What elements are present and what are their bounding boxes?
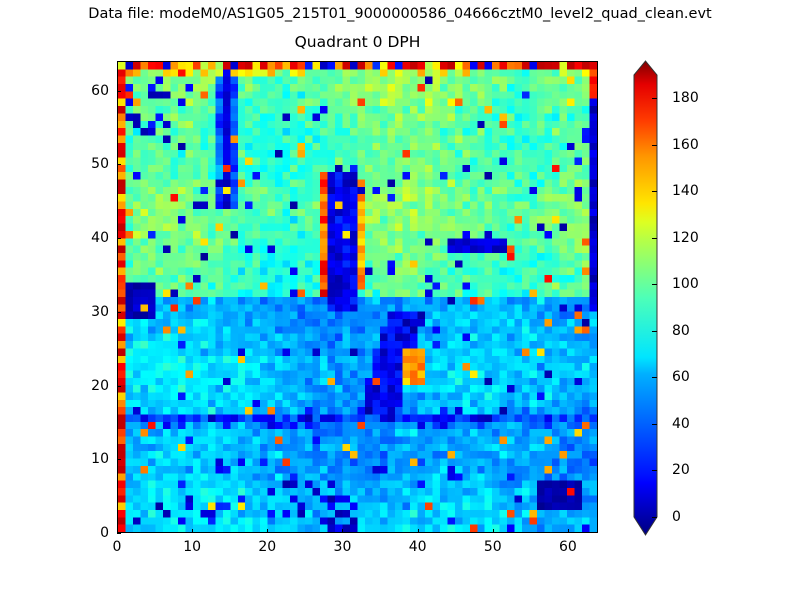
y-tick-mark xyxy=(117,533,121,534)
x-tick-label: 10 xyxy=(183,539,201,555)
x-tick-mark xyxy=(568,529,569,533)
colorbar: 020406080100120140160180 xyxy=(626,58,716,538)
colorbar-tick-mark xyxy=(652,284,657,285)
figure-canvas: Data file: modeM0/AS1G05_215T01_90000005… xyxy=(0,0,800,600)
heatmap-image xyxy=(118,62,597,532)
y-tick-label: 10 xyxy=(73,451,109,467)
colorbar-tick-mark xyxy=(652,191,657,192)
colorbar-tick-label: 140 xyxy=(672,183,699,199)
colorbar-tick-label: 60 xyxy=(672,369,690,385)
colorbar-tick-mark xyxy=(652,98,657,99)
colorbar-tick-mark xyxy=(652,145,657,146)
x-tick-label: 60 xyxy=(559,539,577,555)
y-tick-label: 0 xyxy=(73,525,109,541)
x-tick-label: 20 xyxy=(258,539,276,555)
y-tick-mark xyxy=(117,164,121,165)
colorbar-tick-mark xyxy=(652,238,657,239)
colorbar-tick-mark xyxy=(652,331,657,332)
x-tick-mark xyxy=(418,529,419,533)
colorbar-gradient xyxy=(626,58,716,538)
colorbar-tick-mark xyxy=(652,424,657,425)
y-tick-mark xyxy=(117,312,121,313)
figure-suptitle: Data file: modeM0/AS1G05_215T01_90000005… xyxy=(0,6,800,22)
y-tick-mark xyxy=(117,386,121,387)
x-tick-mark xyxy=(267,529,268,533)
y-tick-label: 40 xyxy=(73,230,109,246)
colorbar-tick-mark xyxy=(652,470,657,471)
colorbar-tick-label: 40 xyxy=(672,416,690,432)
axes-title: Quadrant 0 DPH xyxy=(117,33,598,51)
y-tick-label: 60 xyxy=(73,83,109,99)
y-tick-mark xyxy=(117,91,121,92)
colorbar-tick-label: 20 xyxy=(672,462,690,478)
x-tick-label: 30 xyxy=(334,539,352,555)
x-tick-label: 50 xyxy=(484,539,502,555)
y-tick-label: 30 xyxy=(73,304,109,320)
y-tick-mark xyxy=(117,238,121,239)
colorbar-tick-mark xyxy=(652,517,657,518)
colorbar-tick-mark xyxy=(652,377,657,378)
y-tick-mark xyxy=(117,459,121,460)
colorbar-tick-label: 160 xyxy=(672,137,699,153)
colorbar-tick-label: 0 xyxy=(672,509,681,525)
colorbar-tick-label: 80 xyxy=(672,323,690,339)
x-tick-label: 40 xyxy=(409,539,427,555)
heatmap-axes xyxy=(117,61,598,533)
x-tick-label: 0 xyxy=(113,539,122,555)
colorbar-tick-label: 100 xyxy=(672,276,699,292)
x-tick-mark xyxy=(342,529,343,533)
y-tick-label: 50 xyxy=(73,156,109,172)
y-tick-label: 20 xyxy=(73,378,109,394)
x-tick-mark xyxy=(493,529,494,533)
colorbar-tick-label: 180 xyxy=(672,90,699,106)
colorbar-tick-label: 120 xyxy=(672,230,699,246)
x-tick-mark xyxy=(192,529,193,533)
